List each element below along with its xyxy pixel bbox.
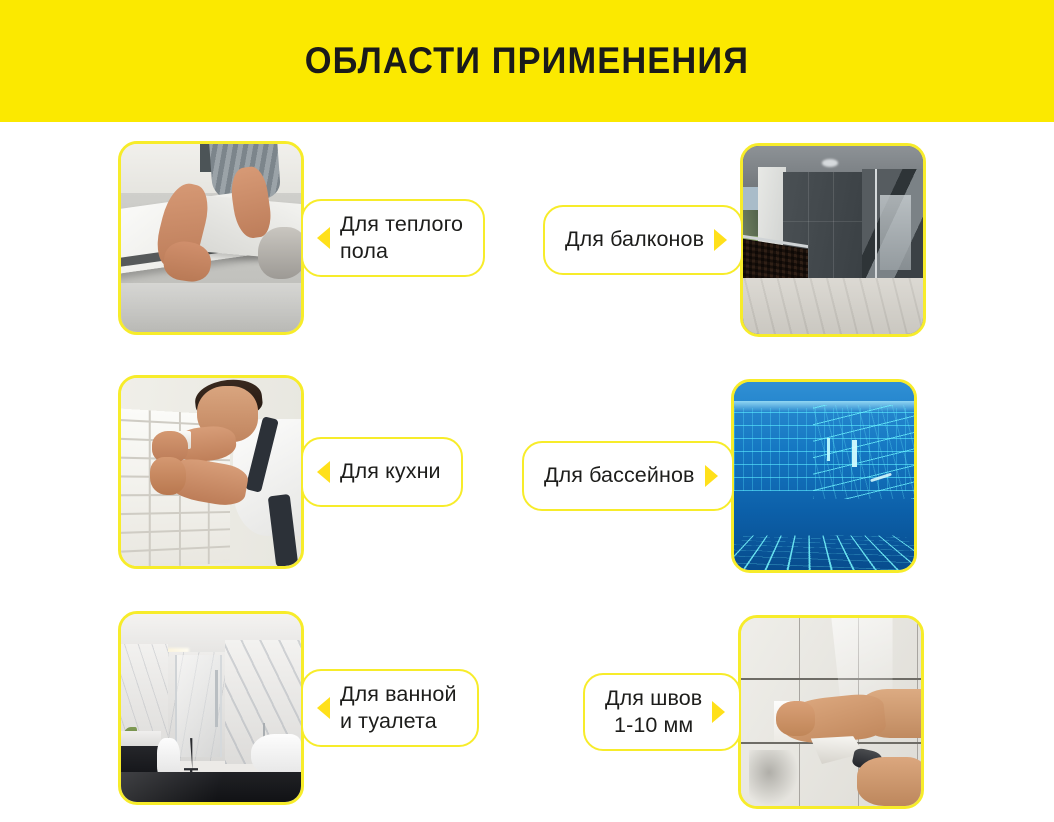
warm-floor-illustration xyxy=(121,144,301,332)
label-pill-bathroom[interactable]: Для ванной и туалета xyxy=(301,669,479,747)
label-pill-warm-floor[interactable]: Для теплого пола xyxy=(301,199,485,277)
swimming-pool-photo xyxy=(731,379,917,573)
header-banner: ОБЛАСТИ ПРИМЕНЕНИЯ xyxy=(0,0,1054,122)
kitchen-illustration xyxy=(121,378,301,566)
card-swimming-pool[interactable]: Для бассейнов xyxy=(522,376,917,576)
card-kitchen[interactable]: Для кухни xyxy=(118,372,463,572)
card-balcony[interactable]: Для балконов xyxy=(543,140,926,340)
bathroom-marble-photo xyxy=(118,611,304,805)
label-pill-kitchen[interactable]: Для кухни xyxy=(301,437,463,507)
card-label: Для ванной и туалета xyxy=(340,681,457,735)
card-bathroom[interactable]: Для ванной и туалета xyxy=(118,608,479,808)
card-label: Для теплого пола xyxy=(340,211,463,265)
grout-joints-photo xyxy=(738,615,924,809)
warm-floor-insulation-photo xyxy=(118,141,304,335)
balcony-photo xyxy=(740,143,926,337)
card-label: Для кухни xyxy=(340,458,441,485)
arrow-right-icon xyxy=(714,229,727,251)
label-pill-grout-joints[interactable]: Для швов 1-10 мм xyxy=(583,673,741,751)
kitchen-brick-tiling-photo xyxy=(118,375,304,569)
arrow-left-icon xyxy=(317,227,330,249)
bathroom-illustration xyxy=(121,614,301,802)
arrow-right-icon xyxy=(712,701,725,723)
arrow-left-icon xyxy=(317,461,330,483)
card-label: Для балконов xyxy=(565,226,704,253)
arrow-right-icon xyxy=(705,465,718,487)
label-pill-balcony[interactable]: Для балконов xyxy=(543,205,743,275)
grout-illustration xyxy=(741,618,921,806)
arrow-left-icon xyxy=(317,697,330,719)
card-label: Для швов 1-10 мм xyxy=(605,685,702,739)
card-label: Для бассейнов xyxy=(544,462,695,489)
pool-illustration xyxy=(734,382,914,570)
card-warm-floor[interactable]: Для теплого пола xyxy=(118,138,485,338)
card-grout-joints[interactable]: Для швов 1-10 мм xyxy=(583,612,924,812)
balcony-illustration xyxy=(743,146,923,334)
application-areas-grid: Для теплого пола Для балконов xyxy=(0,122,1054,822)
label-pill-swimming-pool[interactable]: Для бассейнов xyxy=(522,441,734,511)
page-title: ОБЛАСТИ ПРИМЕНЕНИЯ xyxy=(305,40,749,82)
